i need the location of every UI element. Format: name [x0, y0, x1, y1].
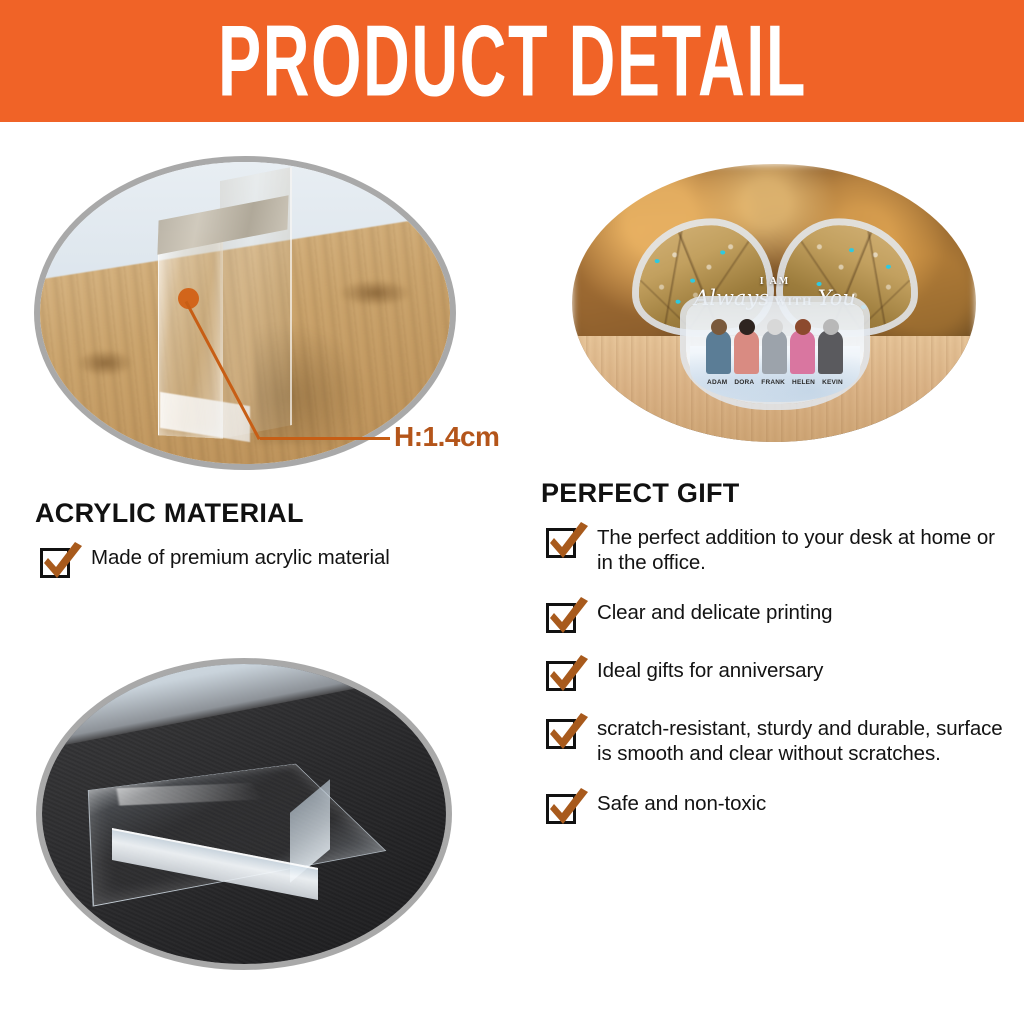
butterfly-acrylic-plaque: I AM Always WITH You ADAMDORAFRANKHELENK…: [638, 224, 912, 406]
wood-table-scene: [40, 162, 450, 464]
family-name: ADAM: [707, 379, 727, 386]
figure-head: [711, 319, 727, 335]
slab-highlight: [116, 783, 263, 806]
checkmark-icon: [546, 603, 576, 633]
figure-head: [823, 319, 839, 335]
family-figure: [762, 330, 787, 374]
family-name: HELEN: [792, 379, 815, 386]
checkmark-icon: [546, 794, 576, 824]
feature-item: The perfect addition to your desk at hom…: [546, 525, 1006, 575]
feature-text: Made of premium acrylic material: [70, 545, 510, 570]
photo-butterfly-plaque: I AM Always WITH You ADAMDORAFRANKHELENK…: [572, 164, 976, 442]
family-name: KEVIN: [822, 379, 843, 386]
product-detail-page: PRODUCT DETAIL H:1.4cm: [0, 0, 1024, 1024]
photo-acrylic-slab: [42, 664, 446, 964]
wood-grain-knot: [340, 280, 410, 306]
family-name: DORA: [734, 379, 754, 386]
heading-acrylic-material: ACRYLIC MATERIAL: [35, 498, 304, 529]
thickness-label: H:1.4cm: [394, 421, 499, 453]
family-names-row: ADAMDORAFRANKHELENKEVIN: [686, 379, 864, 386]
page-title: PRODUCT DETAIL: [218, 9, 807, 110]
feature-text: Ideal gifts for anniversary: [576, 658, 1006, 683]
family-name: FRANK: [761, 379, 785, 386]
plaque-lower-body: ADAMDORAFRANKHELENKEVIN: [686, 302, 864, 404]
feature-list-perfect-gift: The perfect addition to your desk at hom…: [546, 525, 1006, 824]
family-figure: [734, 330, 759, 374]
feature-list-acrylic-material: Made of premium acrylic material: [40, 545, 510, 578]
page-header-banner: PRODUCT DETAIL: [0, 0, 1024, 122]
feature-item: Clear and delicate printing: [546, 600, 1006, 633]
slate-surface: [42, 664, 446, 964]
figure-head: [795, 319, 811, 335]
checkmark-icon: [546, 719, 576, 749]
feature-text: scratch-resistant, sturdy and durable, s…: [576, 716, 1006, 766]
feature-item: Made of premium acrylic material: [40, 545, 510, 578]
thickness-leader-line-horizontal: [260, 437, 390, 440]
figure-head: [739, 319, 755, 335]
family-figure: [790, 330, 815, 374]
acrylic-slab: [94, 722, 346, 912]
feature-item: Ideal gifts for anniversary: [546, 658, 1006, 691]
family-figure: [818, 330, 843, 374]
figure-head: [767, 319, 783, 335]
blue-butterfly-accent: [816, 282, 821, 286]
checkmark-icon: [546, 661, 576, 691]
blue-butterfly-accent: [886, 265, 891, 269]
feature-text: Safe and non-toxic: [576, 791, 1006, 816]
wood-grain-knot: [78, 350, 132, 376]
feature-item: Safe and non-toxic: [546, 791, 1006, 824]
feature-item: scratch-resistant, sturdy and durable, s…: [546, 716, 1006, 766]
heading-perfect-gift: PERFECT GIFT: [541, 478, 740, 509]
photo-acrylic-edge: [40, 162, 450, 464]
checkmark-icon: [546, 528, 576, 558]
blue-butterfly-accent: [849, 248, 854, 252]
family-figure: [706, 330, 731, 374]
checkmark-icon: [40, 548, 70, 578]
feature-text: The perfect addition to your desk at hom…: [576, 525, 1006, 575]
feature-text: Clear and delicate printing: [576, 600, 1006, 625]
acrylic-block-standing: [158, 174, 290, 436]
